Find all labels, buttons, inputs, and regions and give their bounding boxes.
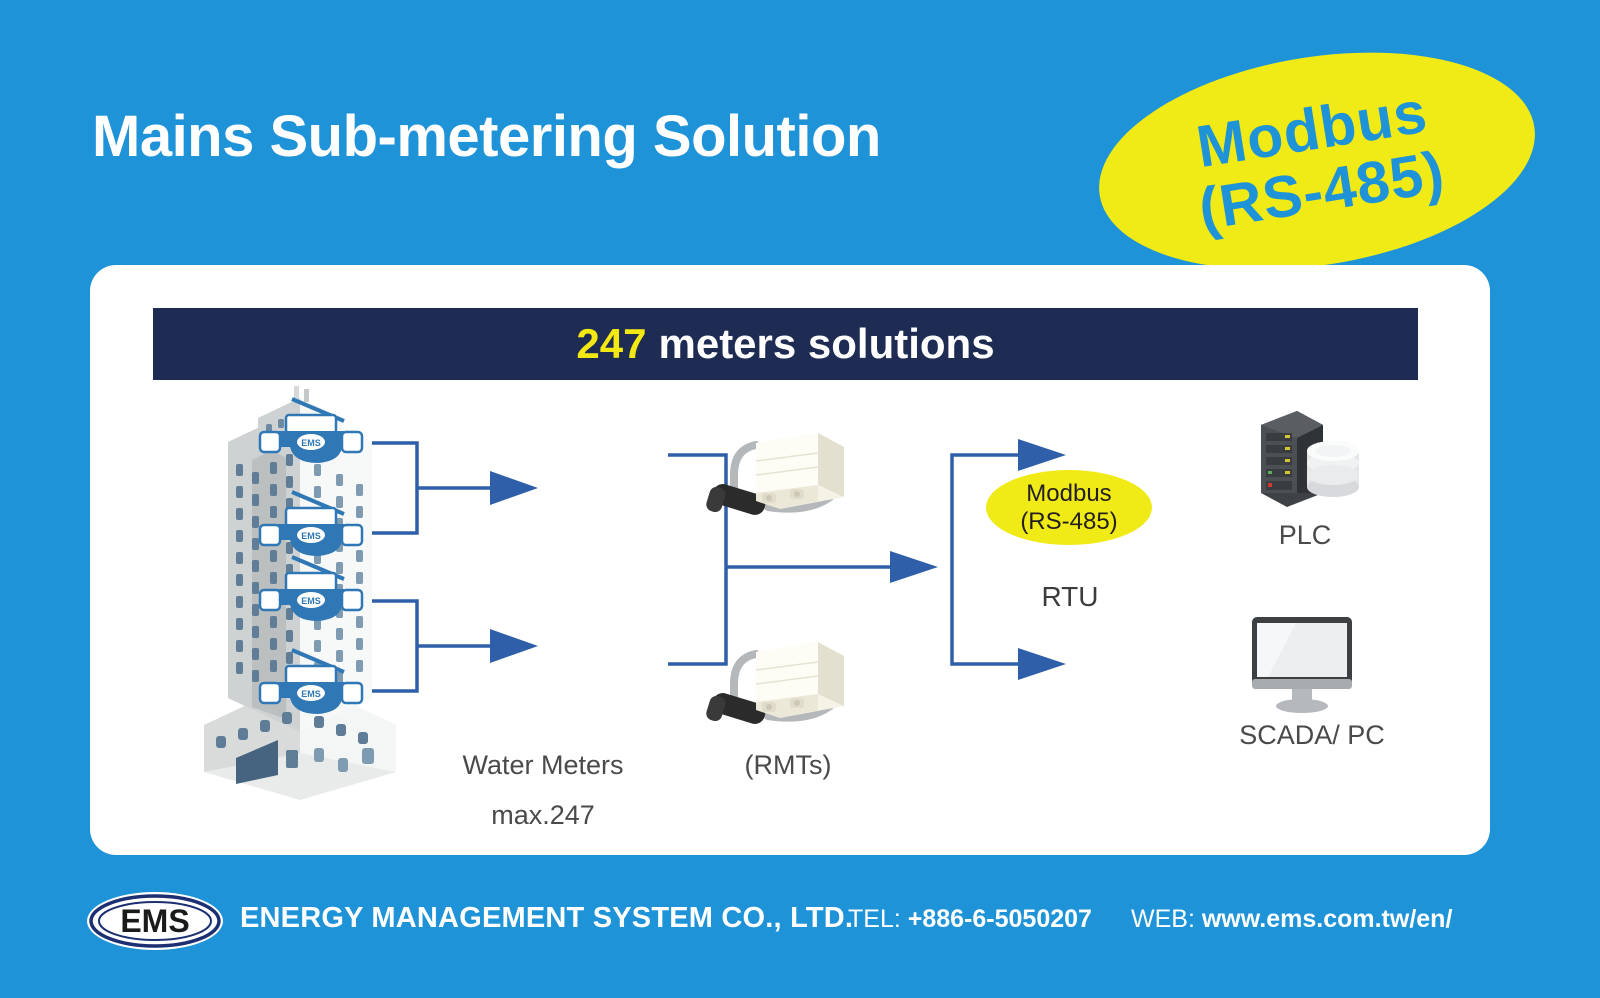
water-meter-ems-badge: EMS <box>301 438 321 448</box>
svg-text:EMS: EMS <box>301 596 321 606</box>
water-meter-icon-4[interactable]: EMS <box>256 646 374 720</box>
svg-text:EMS: EMS <box>301 531 321 541</box>
page-title: Mains Sub-metering Solution <box>92 103 881 170</box>
water-meter-icon-2[interactable]: EMS <box>256 488 374 562</box>
footer-web-value[interactable]: www.ems.com.tw/en/ <box>1202 905 1453 933</box>
footer-telephone: TEL: +886-6-5050207 <box>848 905 1092 934</box>
footer-bar: EMS ENERGY MANAGEMENT SYSTEM CO., LTD. T… <box>0 870 1600 998</box>
plc-icon[interactable] <box>1245 405 1361 509</box>
scada-pc-label: SCADA/ PC <box>1212 720 1412 751</box>
modbus-protocol-badge: Modbus (RS-485) <box>986 470 1152 545</box>
rmt-device-icon-1[interactable] <box>690 415 865 523</box>
water-meter-icon-3[interactable]: EMS <box>256 553 374 627</box>
ems-logo-text: EMS <box>120 903 189 939</box>
footer-tel-value: +886-6-5050207 <box>908 905 1092 933</box>
header-band: Mains Sub-metering Solution Modbus (RS-4… <box>0 0 1600 265</box>
svg-text:EMS: EMS <box>301 689 321 699</box>
footer-tel-key: TEL: <box>848 905 901 933</box>
rmt-device-icon-2[interactable] <box>690 624 865 732</box>
rmts-label: (RMTs) <box>698 750 878 781</box>
solution-diagram: EMS EMS <box>90 265 1490 855</box>
modbus-protocol-line1: Modbus <box>1026 480 1111 508</box>
footer-company-name: ENERGY MANAGEMENT SYSTEM CO., LTD. <box>240 902 853 935</box>
content-card: 247 meters solutions <box>90 265 1490 855</box>
rtu-label: RTU <box>995 581 1145 613</box>
modbus-badge: Modbus (RS-485) <box>1083 24 1550 298</box>
footer-web-key: WEB: <box>1131 905 1195 933</box>
modbus-protocol-line2: (RS-485) <box>1020 508 1117 536</box>
water-meter-icon-1[interactable]: EMS <box>256 395 374 469</box>
water-meters-label-line2: max.247 <box>408 800 678 831</box>
water-meters-label-line1: Water Meters <box>408 750 678 781</box>
plc-label: PLC <box>1235 520 1375 551</box>
ems-logo: EMS <box>85 890 225 952</box>
modbus-badge-text: Modbus (RS-485) <box>1083 24 1550 298</box>
scada-pc-icon[interactable] <box>1248 613 1356 715</box>
footer-website[interactable]: WEB: www.ems.com.tw/en/ <box>1131 905 1452 934</box>
